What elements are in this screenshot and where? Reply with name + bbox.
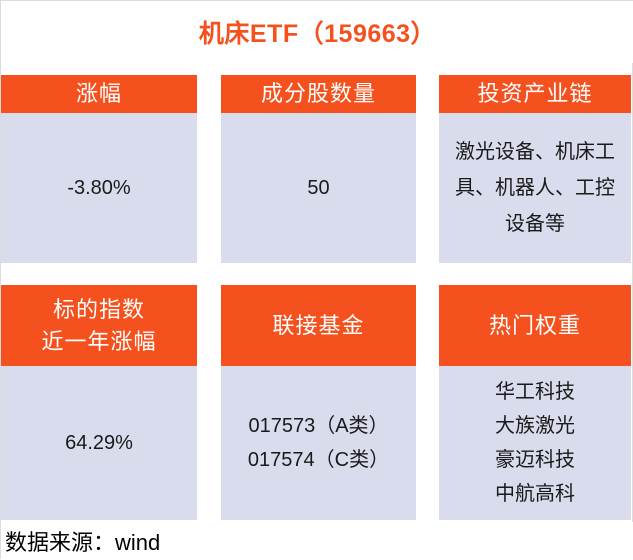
- stat-card-constituents-value: 50: [221, 113, 416, 263]
- header-line-2: 近一年涨幅: [41, 326, 156, 358]
- stat-card-constituents: 成分股数量 50: [221, 75, 416, 263]
- stat-card-industry-chain: 投资产业链 激光设备、机床工具、机器人、工控设备等: [439, 75, 631, 263]
- feeder-fund-code-a: 017573（A类）: [248, 409, 389, 443]
- stat-card-index-1y-return-header: 标的指数 近一年涨幅: [1, 285, 197, 366]
- feeder-fund-code-list: 017573（A类） 017574（C类）: [248, 409, 389, 477]
- top-holdings-list: 华工科技 大族激光 豪迈科技 中航高科: [495, 375, 575, 511]
- stat-card-index-1y-return: 标的指数 近一年涨幅 64.29%: [1, 285, 197, 520]
- stat-card-index-1y-return-value: 64.29%: [1, 366, 197, 520]
- stat-card-feeder-fund: 联接基金 017573（A类） 017574（C类）: [221, 285, 416, 520]
- stat-card-feeder-fund-value: 017573（A类） 017574（C类）: [221, 366, 416, 520]
- stat-card-change: 涨幅 -3.80%: [1, 75, 197, 263]
- holding-item: 华工科技: [495, 375, 575, 409]
- page-title-bar: 机床ETF（159663）: [1, 1, 633, 63]
- stat-card-index-1y-return-header-lines: 标的指数 近一年涨幅: [41, 294, 156, 358]
- stat-card-top-holdings: 热门权重 华工科技 大族激光 豪迈科技 中航高科: [439, 285, 631, 520]
- footer: 数据来源：wind: [1, 522, 633, 560]
- holding-item: 大族激光: [495, 409, 575, 443]
- data-source-label: 数据来源：wind: [1, 525, 160, 557]
- stat-card-constituents-header: 成分股数量: [221, 75, 416, 113]
- stat-card-change-header: 涨幅: [1, 75, 197, 113]
- page-title: 机床ETF（159663）: [199, 14, 436, 50]
- holding-item: 豪迈科技: [495, 443, 575, 477]
- stat-card-top-holdings-header: 热门权重: [439, 285, 631, 366]
- feeder-fund-code-c: 017574（C类）: [248, 443, 389, 477]
- header-line-1: 标的指数: [41, 294, 156, 326]
- infographic-page: 机床ETF（159663） 涨幅 -3.80% 成分股数量 50 投资产业链 激…: [0, 0, 633, 559]
- stat-card-feeder-fund-header: 联接基金: [221, 285, 416, 366]
- holding-item: 中航高科: [495, 477, 575, 511]
- stat-card-industry-chain-header: 投资产业链: [439, 75, 631, 113]
- stat-card-industry-chain-value: 激光设备、机床工具、机器人、工控设备等: [439, 113, 631, 263]
- stat-card-top-holdings-value: 华工科技 大族激光 豪迈科技 中航高科: [439, 366, 631, 520]
- stat-card-change-value: -3.80%: [1, 113, 197, 263]
